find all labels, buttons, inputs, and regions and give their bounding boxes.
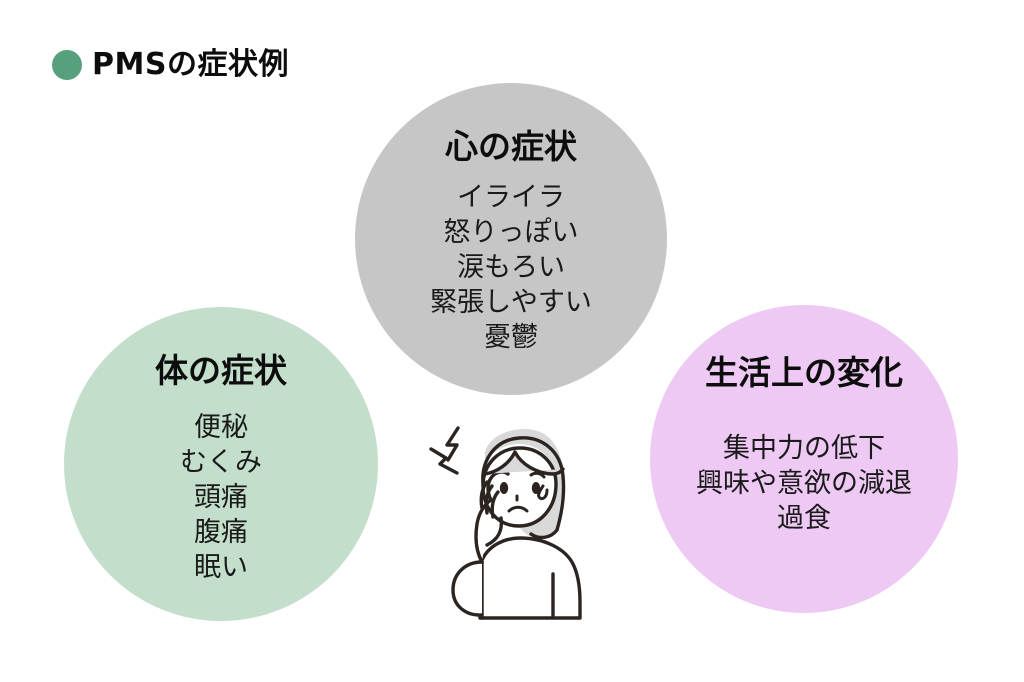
- bubble-mind-heading: 心の症状: [445, 129, 577, 165]
- woman-headache-svg: [425, 412, 620, 628]
- page-title: PMSの症状例: [52, 50, 289, 80]
- bubble-mind-symptoms: 心の症状 イライラ 怒りっぽい 涙もろい 緊張しやすい 憂鬱: [355, 83, 667, 395]
- list-item: 頭痛: [194, 480, 248, 515]
- bullet-circle-icon: [52, 50, 82, 80]
- list-item: 集中力の低下: [723, 431, 885, 466]
- list-item: 眠い: [194, 550, 248, 585]
- list-item: むくみ: [180, 445, 262, 480]
- list-item: イライラ: [457, 180, 565, 215]
- list-item: 緊張しやすい: [430, 285, 592, 320]
- list-item: 憂鬱: [484, 320, 538, 355]
- arm-outline: [453, 562, 482, 615]
- bubble-life-heading: 生活上の変化: [705, 355, 903, 391]
- bubble-body-list: 便秘 むくみ 頭痛 腹痛 眠い: [180, 410, 262, 585]
- eye-left: [500, 482, 508, 494]
- bubble-life-changes: 生活上の変化 集中力の低下 興味や意欲の減退 過食: [650, 305, 958, 613]
- slide-canvas: PMSの症状例 心の症状 イライラ 怒りっぽい 涙もろい 緊張しやすい 憂鬱 体…: [0, 0, 1024, 682]
- list-item: 過食: [777, 501, 831, 536]
- bubble-body-heading: 体の症状: [155, 353, 287, 389]
- woman-with-headache-illustration: [425, 412, 620, 628]
- bubble-life-list: 集中力の低下 興味や意欲の減退 過食: [696, 431, 912, 536]
- list-item: 便秘: [194, 410, 248, 445]
- list-item: 怒りっぽい: [443, 215, 578, 250]
- lightning-bolt-icon: [431, 428, 458, 473]
- bubble-body-symptoms: 体の症状 便秘 むくみ 頭痛 腹痛 眠い: [64, 307, 378, 621]
- list-item: 興味や意欲の減退: [696, 466, 912, 501]
- page-title-text: PMSの症状例: [92, 50, 289, 80]
- list-item: 腹痛: [194, 515, 248, 550]
- list-item: 涙もろい: [457, 250, 565, 285]
- bubble-mind-list: イライラ 怒りっぽい 涙もろい 緊張しやすい 憂鬱: [430, 180, 592, 355]
- shirt-body: [480, 538, 580, 618]
